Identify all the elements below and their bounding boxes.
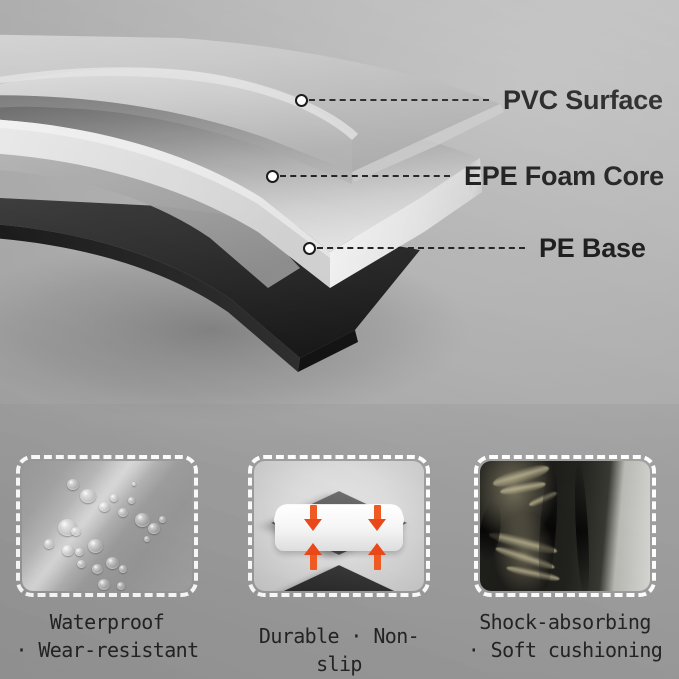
callout-line-pvc bbox=[309, 99, 489, 101]
infographic-page: PVC Surface EPE Foam Core PE Base bbox=[0, 0, 679, 679]
callout-label-epe: EPE Foam Core bbox=[464, 161, 664, 191]
feature-caption-durable: Durable · Non-slip bbox=[240, 622, 438, 678]
crumpled-pe-film-icon bbox=[480, 461, 650, 591]
callout-dot-pvc bbox=[295, 94, 308, 107]
shock-absorbing-image bbox=[480, 461, 650, 591]
feature-shock-absorbing: Shock-absorbing · Soft cushioning bbox=[466, 440, 664, 664]
callout-dot-epe bbox=[266, 170, 279, 183]
waterproof-image bbox=[22, 461, 192, 591]
feature-waterproof: Waterproof · Wear-resistant bbox=[8, 440, 206, 664]
arrow-up-right-icon bbox=[368, 543, 386, 555]
callout-pvc-surface: PVC Surface bbox=[295, 85, 663, 115]
exploded-layer-illustration bbox=[0, 0, 679, 420]
water-droplets-on-fabric-icon bbox=[22, 461, 192, 591]
feature-frame-durable bbox=[248, 455, 430, 597]
callout-label-pe: PE Base bbox=[539, 233, 646, 263]
feature-caption-waterproof: Waterproof · Wear-resistant bbox=[8, 608, 206, 664]
arrow-down-right-icon bbox=[368, 519, 386, 531]
callout-pe-base: PE Base bbox=[303, 233, 646, 263]
feature-panels: Waterproof · Wear-resistant bbox=[0, 440, 679, 679]
feature-frame-shock-absorbing bbox=[474, 455, 656, 597]
arrow-up-right-stem bbox=[374, 553, 381, 570]
arrow-up-left-icon bbox=[304, 543, 322, 555]
arrow-down-left-icon bbox=[304, 519, 322, 531]
callout-dot-pe bbox=[303, 242, 316, 255]
film-sheen-overlay bbox=[480, 461, 650, 591]
callout-epe-foam-core: EPE Foam Core bbox=[266, 161, 664, 191]
callout-label-pvc: PVC Surface bbox=[503, 85, 663, 115]
durable-image bbox=[254, 461, 424, 591]
feature-frame-waterproof bbox=[16, 455, 198, 597]
callout-line-epe bbox=[280, 175, 450, 177]
arrow-up-left-stem bbox=[310, 553, 317, 570]
icon-bottom-sheet bbox=[271, 565, 407, 591]
callout-line-pe bbox=[317, 247, 525, 249]
layer-compression-arrows-icon bbox=[254, 461, 424, 591]
feature-caption-shock-absorbing: Shock-absorbing · Soft cushioning bbox=[466, 608, 664, 664]
feature-durable: Durable · Non-slip bbox=[240, 440, 438, 678]
